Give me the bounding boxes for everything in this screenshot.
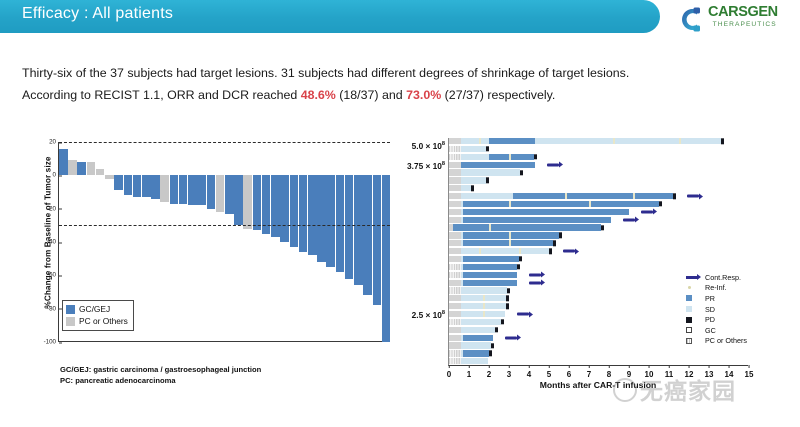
swimmer-segment-pr (461, 162, 535, 168)
swimmer-segment-tumor-type (449, 169, 461, 175)
waterfall-bar (336, 175, 345, 272)
slide-root: Efficacy : All patients CARSGEN THERAPEU… (0, 0, 800, 427)
waterfall-bar (253, 175, 262, 230)
swimmer-segment-tumor-type (449, 327, 461, 333)
dcr-value: 73.0% (406, 88, 441, 102)
swimmer-marker-cont-resp (623, 218, 635, 221)
swimmer-segment-tumor-type (449, 185, 461, 191)
swimmer-segment-sd (461, 146, 486, 152)
logo-text: CARSGEN THERAPEUTICS (708, 5, 778, 29)
waterfall-bar (179, 175, 188, 203)
swimmer-x-tick: 7 (587, 365, 591, 379)
swimmer-segment-sd (461, 342, 491, 348)
swimmer-dose-label: 3.75 × 108 (407, 161, 449, 171)
swimmer-segment-tumor-type (449, 350, 461, 356)
swimmer-marker-cont-resp (517, 313, 529, 316)
waterfall-bar (308, 175, 317, 255)
swimmer-segment-pr (463, 240, 553, 246)
legend-label-re-inf: Re-Inf. (705, 283, 727, 292)
legend-label-gc-gej: GC/GEJ (79, 304, 110, 314)
waterfall-bar (151, 175, 160, 198)
waterfall-bar (290, 175, 299, 247)
swimmer-x-tick: 10 (645, 365, 654, 379)
swimmer-segment-pr (463, 209, 629, 215)
swimmer-segment-sd (461, 185, 471, 191)
swimmer-segment-pr (463, 350, 489, 356)
waterfall-bar (170, 175, 179, 203)
waterfall-bar (160, 175, 169, 202)
logo-subtitle: THERAPEUTICS (708, 20, 778, 29)
swimmer-x-tick: 0 (447, 365, 451, 379)
waterfall-bar (326, 175, 335, 267)
legend-label-pc-others: PC or Others (705, 336, 747, 345)
swimmer-segment-sd (461, 358, 488, 364)
waterfall-y-tick: -40 (47, 239, 59, 246)
waterfall-reference-line (59, 225, 390, 226)
swimmer-marker-re-infusion (633, 193, 635, 199)
swimmer-row (449, 232, 749, 238)
swimmer-x-tick: 6 (567, 365, 571, 379)
waterfall-bar (345, 175, 354, 278)
swimmer-marker-re-infusion (479, 138, 481, 144)
waterfall-chart: %Change from Baseline of Tumor size 200-… (14, 132, 404, 382)
intro-line-1: Thirty-six of the 37 subjects had target… (22, 62, 778, 84)
footnote-pc: PC: pancreatic adenocarcinoma (60, 375, 261, 386)
swimmer-row (449, 138, 749, 144)
swimmer-segment-tumor-type (449, 303, 461, 309)
swimmer-marker-pd (486, 178, 489, 183)
swimmer-marker-pd (506, 296, 509, 301)
swimmer-segment-tumor-type (449, 138, 461, 144)
swimmer-x-axis-label: Months after CAR-T infusion (448, 380, 748, 390)
swimmer-segment-sd (461, 169, 520, 175)
waterfall-bar (317, 175, 326, 262)
swimmer-segment-tumor-type (449, 154, 461, 160)
legend-item-re-inf: Re-Inf. (686, 283, 747, 294)
swimmer-segment-sd (461, 319, 501, 325)
swimmer-segment-tumor-type (449, 272, 461, 278)
swimmer-x-tick: 8 (607, 365, 611, 379)
swimmer-marker-pd (517, 264, 520, 269)
swimmer-row (449, 256, 749, 262)
legend-label-pc-others: PC or Others (79, 316, 128, 326)
waterfall-bar (299, 175, 308, 252)
swimmer-row (449, 209, 749, 215)
legend-item-pd: PD (686, 314, 747, 325)
swimmer-segment-pr (463, 280, 517, 286)
swimmer-marker-pd (549, 248, 552, 253)
waterfall-bar (216, 175, 225, 212)
waterfall-bar (354, 175, 363, 285)
swimmer-segment-tumor-type (449, 240, 461, 246)
swimmer-segment-sd (461, 248, 549, 254)
footnote-gc-gej: GC/GEJ: gastric carcinoma / gastroesopha… (60, 364, 261, 375)
swimmer-x-tick: 2 (487, 365, 491, 379)
swimmer-segment-pr (489, 154, 534, 160)
waterfall-bar (142, 175, 151, 197)
waterfall-bar (382, 175, 391, 342)
legend-swatch-pc-others (686, 338, 700, 344)
legend-label-sd: SD (705, 305, 715, 314)
swimmer-marker-pd (486, 146, 489, 151)
swimmer-x-tick: 5 (547, 365, 551, 379)
legend-swatch-gc-gej (66, 305, 75, 314)
waterfall-bar (77, 162, 86, 175)
swimmer-row (449, 169, 749, 175)
swimmer-x-tick: 1 (467, 365, 471, 379)
waterfall-bar (124, 175, 133, 195)
legend-item-pr: PR (686, 293, 747, 304)
legend-swatch-pd (686, 317, 700, 323)
swimmer-segment-sd (461, 287, 507, 293)
swimmer-marker-pd (520, 170, 523, 175)
swimmer-row (449, 146, 749, 152)
swimmer-dose-label: 2.5 × 108 (412, 310, 449, 320)
brand-logo: CARSGEN THERAPEUTICS (676, 4, 794, 36)
swimmer-marker-pd (495, 327, 498, 332)
swimmer-segment-tumor-type (449, 342, 461, 348)
swimmer-marker-cont-resp (529, 273, 541, 276)
waterfall-bar (225, 175, 234, 213)
swimmer-marker-pd (489, 351, 492, 356)
swimmer-row (449, 162, 749, 168)
waterfall-bar (207, 175, 216, 208)
swimmer-marker-pd (673, 193, 676, 198)
swimmer-segment-pr (463, 217, 611, 223)
waterfall-y-axis-label: %Change from Baseline of Tumor size (44, 143, 53, 323)
swimmer-marker-re-infusion (483, 295, 485, 301)
legend-item-pc-others: PC or Others (66, 315, 128, 327)
swimmer-marker-re-infusion (483, 303, 485, 309)
swimmer-segment-tumor-type (449, 193, 461, 199)
waterfall-bar (87, 162, 96, 175)
legend-arrow-icon (686, 276, 700, 279)
orr-value: 48.6% (301, 88, 336, 102)
swimmer-segment-tumor-type (449, 248, 461, 254)
legend-item-gc: GC (686, 325, 747, 336)
waterfall-y-tick: -60 (47, 272, 59, 279)
swimmer-marker-pd (491, 343, 494, 348)
swimmer-x-tick: 12 (685, 365, 694, 379)
swimmer-marker-pd (471, 186, 474, 191)
swimmer-row (449, 201, 749, 207)
legend-swatch-re-inf (686, 286, 700, 289)
legend-swatch-pr (686, 295, 700, 301)
swimmer-marker-cont-resp (529, 281, 541, 284)
legend-label-pd: PD (705, 315, 715, 324)
legend-label-pr: PR (705, 294, 715, 303)
swimmer-segment-pr (463, 256, 519, 262)
logo-name: CARSGEN (708, 5, 778, 20)
swimmer-marker-cont-resp (505, 336, 517, 339)
swimmer-segment-tumor-type (449, 311, 461, 317)
legend-swatch-gc (686, 327, 700, 333)
swimmer-segment-tumor-type (449, 335, 461, 341)
swimmer-segment-tumor-type (449, 256, 461, 262)
waterfall-y-tick: -80 (47, 305, 59, 312)
swimmer-marker-re-infusion (589, 201, 591, 207)
swimmer-segment-pr (489, 138, 535, 144)
swimmer-x-tick: 9 (627, 365, 631, 379)
intro-paragraph: Thirty-six of the 37 subjects had target… (22, 62, 778, 106)
swimmer-segment-pr (463, 201, 659, 207)
swimmer-segment-tumor-type (449, 217, 461, 223)
swimmer-marker-pd (519, 256, 522, 261)
waterfall-bar (188, 175, 197, 205)
waterfall-bar (59, 149, 68, 176)
swimmer-marker-re-infusion (509, 154, 511, 160)
swimmer-segment-tumor-type (449, 232, 461, 238)
swimmer-marker-re-infusion (679, 138, 681, 144)
waterfall-footnotes: GC/GEJ: gastric carcinoma / gastroesopha… (60, 364, 261, 386)
swimmer-x-tick: 4 (527, 365, 531, 379)
swimmer-row (449, 224, 749, 230)
swimmer-segment-tumor-type (449, 209, 461, 215)
swimmer-x-tick: 15 (745, 365, 754, 379)
swimmer-row (449, 240, 749, 246)
swimmer-segment-pr (453, 224, 601, 230)
intro-line-2: According to RECIST 1.1, ORR and DCR rea… (22, 84, 778, 106)
legend-label-cont-resp: Cont.Resp. (705, 273, 741, 282)
legend-item-sd: SD (686, 304, 747, 315)
swimmer-segment-pr (463, 264, 517, 270)
waterfall-bar (68, 160, 77, 175)
swimmer-marker-re-infusion (509, 201, 511, 207)
swimmer-marker-re-infusion (483, 311, 485, 317)
swimmer-segment-sd (461, 327, 495, 333)
swimmer-marker-pd (501, 319, 504, 324)
swimmer-segment-tumor-type (449, 319, 461, 325)
swimmer-segment-tumor-type (449, 264, 461, 270)
waterfall-y-tick: 0 (53, 172, 59, 179)
swimmer-marker-pd (659, 201, 662, 206)
waterfall-bar (234, 175, 243, 225)
swimmer-segment-tumor-type (449, 358, 461, 364)
legend-label-gc: GC (705, 326, 716, 335)
swimmer-marker-cont-resp (687, 195, 699, 198)
waterfall-bar (114, 175, 123, 190)
swimmer-x-tick: 3 (507, 365, 511, 379)
waterfall-bar (96, 169, 105, 176)
swimmer-marker-pd (601, 225, 604, 230)
swimmer-marker-re-infusion (509, 232, 511, 238)
swimmer-marker-re-infusion (613, 138, 615, 144)
swimmer-segment-tumor-type (449, 162, 461, 168)
swimmer-marker-re-infusion (479, 248, 481, 254)
swimmer-dose-label: 5.0 × 108 (412, 141, 449, 151)
swimmer-row (449, 185, 749, 191)
swimmer-segment-tumor-type (449, 287, 461, 293)
swimmer-marker-pd (553, 241, 556, 246)
legend-item-pc-others: PC or Others (686, 336, 747, 347)
swimmer-marker-pd (559, 233, 562, 238)
swimmer-row (449, 248, 749, 254)
swimmer-segment-tumor-type (449, 201, 461, 207)
swimmer-x-tick: 11 (665, 365, 673, 379)
swimmer-marker-re-infusion (565, 193, 567, 199)
swimmer-row (449, 217, 749, 223)
swimmer-legend: Cont.Resp. Re-Inf. PR SD PD GC (686, 272, 747, 346)
waterfall-bar (133, 175, 142, 197)
swimmer-row (449, 154, 749, 160)
carsgen-c-logo-icon (676, 6, 704, 33)
swimmer-segment-sd (461, 177, 486, 183)
swimmer-chart: 01234567891011121314155.0 × 1083.75 × 10… (410, 134, 792, 386)
swimmer-marker-cont-resp (563, 250, 575, 253)
legend-swatch-sd (686, 306, 700, 312)
waterfall-bar (271, 175, 280, 237)
waterfall-bar (280, 175, 289, 242)
swimmer-segment-tumor-type (449, 146, 461, 152)
swimmer-segment-pr (463, 232, 559, 238)
swimmer-row (449, 193, 749, 199)
swimmer-marker-re-infusion (519, 248, 521, 254)
swimmer-row (449, 177, 749, 183)
waterfall-bar (373, 175, 382, 305)
swimmer-marker-pd (507, 288, 510, 293)
swimmer-marker-cont-resp (641, 210, 653, 213)
waterfall-bar (363, 175, 372, 295)
swimmer-segment-tumor-type (449, 177, 461, 183)
swimmer-row (449, 264, 749, 270)
legend-item-cont-resp: Cont.Resp. (686, 272, 747, 283)
swimmer-segment-pr (513, 193, 673, 199)
waterfall-bar (197, 175, 206, 205)
waterfall-bar (243, 175, 252, 228)
waterfall-bar (105, 175, 114, 178)
swimmer-row (449, 358, 749, 364)
swimmer-marker-re-infusion (489, 224, 491, 230)
waterfall-y-tick: -20 (47, 205, 59, 212)
swimmer-marker-cont-resp (547, 163, 559, 166)
swimmer-x-tick: 13 (705, 365, 714, 379)
waterfall-y-tick: 20 (49, 139, 59, 146)
legend-item-gc-gej: GC/GEJ (66, 303, 128, 315)
page-title: Efficacy : All patients (22, 5, 173, 23)
waterfall-legend: GC/GEJ PC or Others (62, 300, 134, 331)
swimmer-segment-pr (463, 335, 493, 341)
swimmer-marker-pd (721, 138, 724, 143)
swimmer-marker-pd (506, 304, 509, 309)
swimmer-x-tick: 14 (725, 365, 734, 379)
swimmer-marker-pd (534, 154, 537, 159)
swimmer-row (449, 350, 749, 356)
swimmer-segment-tumor-type (449, 280, 461, 286)
swimmer-marker-re-infusion (509, 240, 511, 246)
waterfall-y-tick: -100 (44, 339, 59, 346)
swimmer-segment-pr (463, 272, 517, 278)
swimmer-segment-tumor-type (449, 295, 461, 301)
waterfall-reference-line (59, 142, 390, 143)
legend-swatch-pc-others (66, 317, 75, 326)
